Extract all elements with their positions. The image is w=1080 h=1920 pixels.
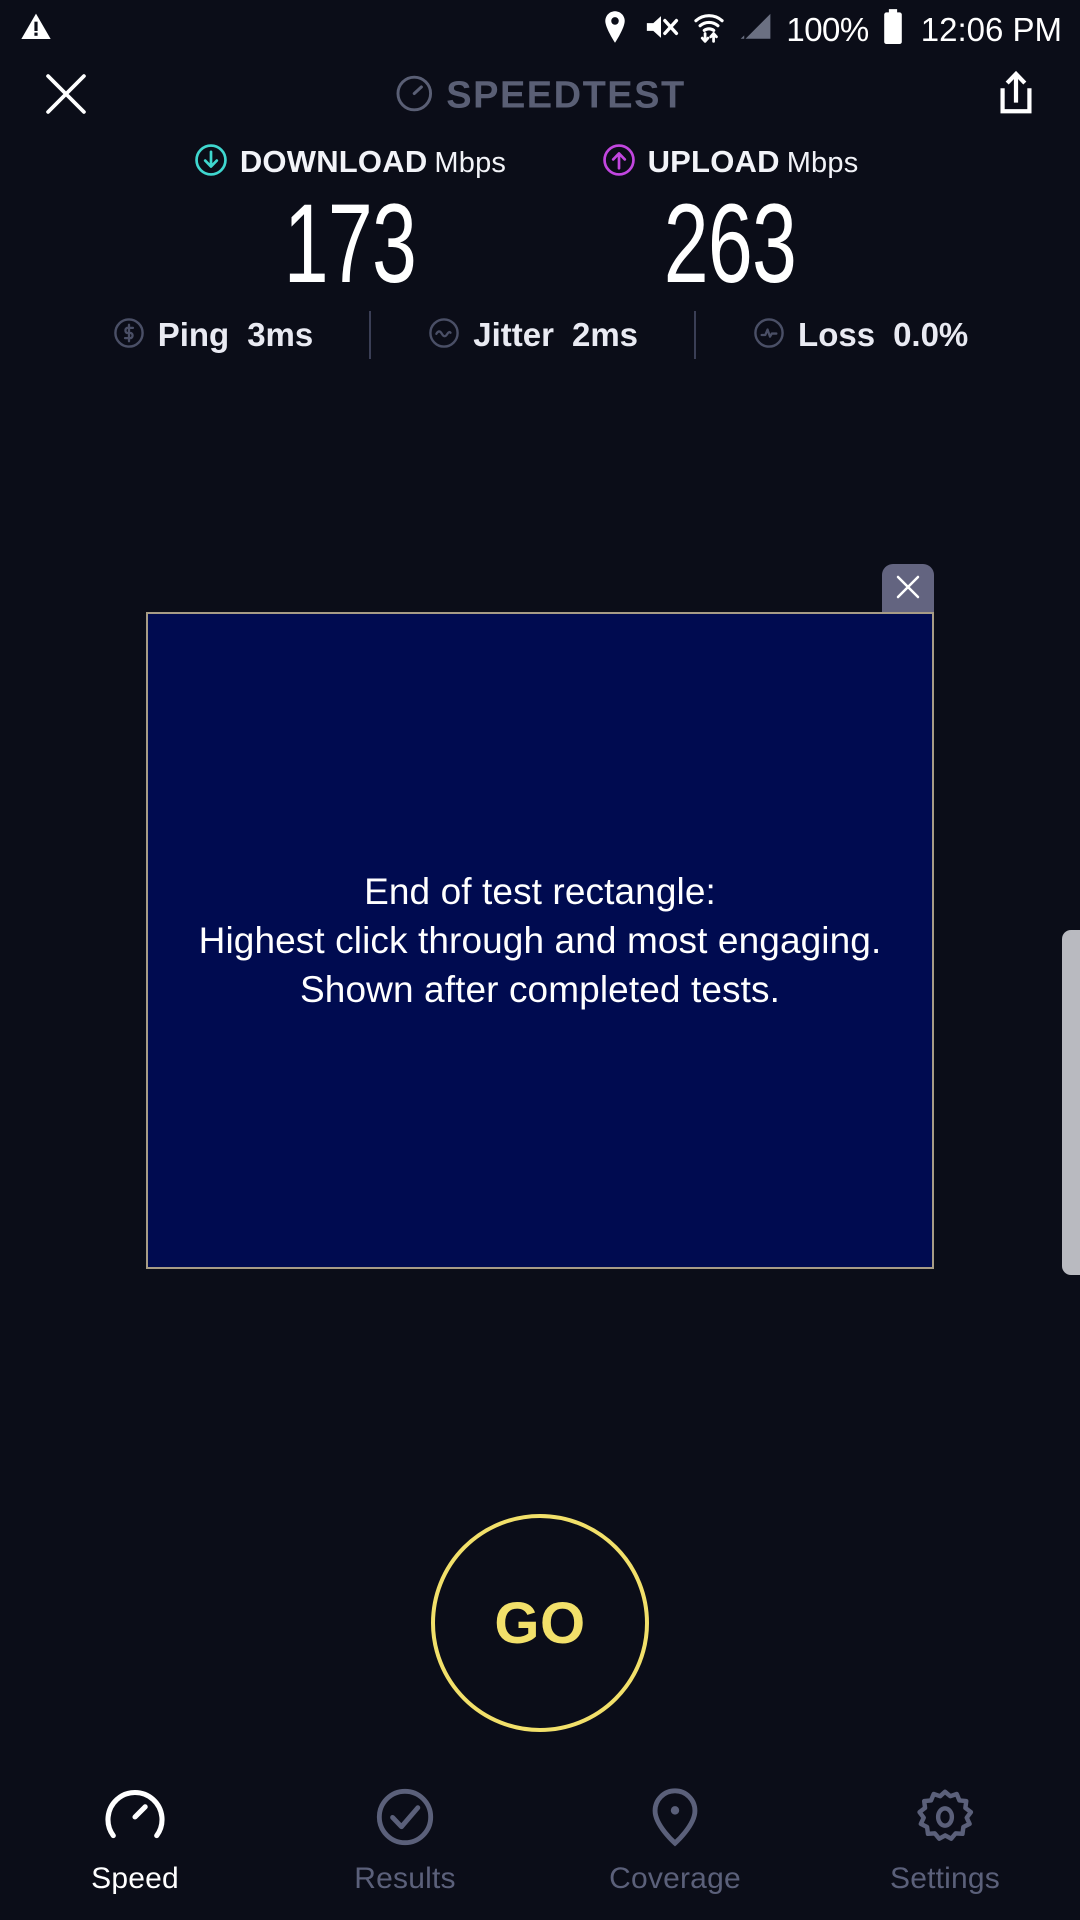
ping-value: 3ms: [247, 316, 313, 354]
vertical-scrollbar[interactable]: [1062, 930, 1080, 1275]
battery-full-icon: [882, 9, 904, 50]
ad-text-line-2: Highest click through and most engaging.: [199, 916, 882, 965]
upload-arrow-icon: [602, 143, 636, 182]
loss-icon: [752, 316, 786, 355]
share-button[interactable]: [988, 68, 1044, 124]
download-label: DOWNLOADMbps: [240, 144, 506, 180]
nav-label-speed: Speed: [91, 1862, 179, 1896]
ad-text-line-1: End of test rectangle:: [199, 867, 882, 916]
download-value: 173: [284, 188, 416, 300]
bottom-navigation: Speed Results Coverage: [0, 1780, 1080, 1920]
status-bar-left: [20, 11, 52, 48]
download-result: DOWNLOADMbps 173: [160, 140, 540, 300]
ad-text-line-3: Shown after completed tests.: [199, 965, 882, 1014]
ad-close-button[interactable]: [882, 564, 934, 614]
status-bar-right: 100% 12:06 PM: [600, 9, 1062, 50]
results-summary: DOWNLOADMbps 173 UPLOADMbps 263: [0, 140, 1080, 300]
close-button[interactable]: [38, 68, 94, 124]
upload-header: UPLOADMbps: [602, 140, 859, 184]
close-icon: [893, 572, 923, 607]
warning-triangle-icon: [20, 11, 52, 48]
upload-value: 263: [664, 188, 796, 300]
clock-label: 12:06 PM: [921, 13, 1062, 46]
close-icon: [41, 69, 91, 124]
wifi-transfer-icon: [692, 10, 726, 49]
check-circle-icon: [374, 1786, 436, 1848]
battery-percent-label: 100%: [786, 13, 868, 46]
speedometer-icon: [394, 74, 434, 119]
gear-icon: [914, 1786, 976, 1848]
jitter-value: 2ms: [572, 316, 638, 354]
metric-loss: Loss 0.0%: [752, 316, 968, 355]
go-button[interactable]: GO: [431, 1514, 649, 1732]
upload-result: UPLOADMbps 263: [540, 140, 920, 300]
metric-jitter: Jitter 2ms: [427, 316, 638, 355]
nav-item-settings[interactable]: Settings: [810, 1786, 1080, 1896]
jitter-icon: [427, 316, 461, 355]
cellular-signal-icon: [739, 11, 773, 48]
volume-muted-icon: [643, 11, 679, 48]
metric-divider-1: [369, 311, 371, 359]
network-metrics-row: Ping 3ms Jitter 2ms: [0, 305, 1080, 365]
ad-text: End of test rectangle: Highest click thr…: [199, 867, 882, 1015]
speed-values-row: DOWNLOADMbps 173 UPLOADMbps 263: [0, 140, 1080, 300]
ping-icon: [112, 316, 146, 355]
jitter-label: Jitter: [473, 316, 554, 354]
metric-divider-2: [694, 311, 696, 359]
nav-item-coverage[interactable]: Coverage: [540, 1786, 810, 1896]
brand-logo: SPEEDTEST: [394, 74, 685, 119]
nav-label-results: Results: [354, 1862, 455, 1896]
app-header: SPEEDTEST: [0, 58, 1080, 134]
status-bar: 100% 12:06 PM: [0, 0, 1080, 58]
share-icon: [993, 69, 1039, 124]
download-header: DOWNLOADMbps: [194, 140, 506, 184]
brand-label: SPEEDTEST: [446, 75, 685, 118]
go-button-label: GO: [494, 1590, 585, 1657]
upload-label: UPLOADMbps: [648, 144, 859, 180]
loss-label: Loss: [798, 316, 875, 354]
ping-label: Ping: [158, 316, 230, 354]
ad-banner[interactable]: End of test rectangle: Highest click thr…: [146, 612, 934, 1269]
location-pin-icon: [600, 10, 630, 49]
speedometer-icon: [104, 1786, 166, 1848]
nav-label-coverage: Coverage: [609, 1862, 741, 1896]
loss-value: 0.0%: [893, 316, 968, 354]
speedtest-app: 100% 12:06 PM: [0, 0, 1080, 1920]
download-arrow-icon: [194, 143, 228, 182]
metric-ping: Ping 3ms: [112, 316, 314, 355]
map-pin-icon: [644, 1786, 706, 1848]
nav-label-settings: Settings: [890, 1862, 1000, 1896]
nav-item-results[interactable]: Results: [270, 1786, 540, 1896]
nav-item-speed[interactable]: Speed: [0, 1786, 270, 1896]
